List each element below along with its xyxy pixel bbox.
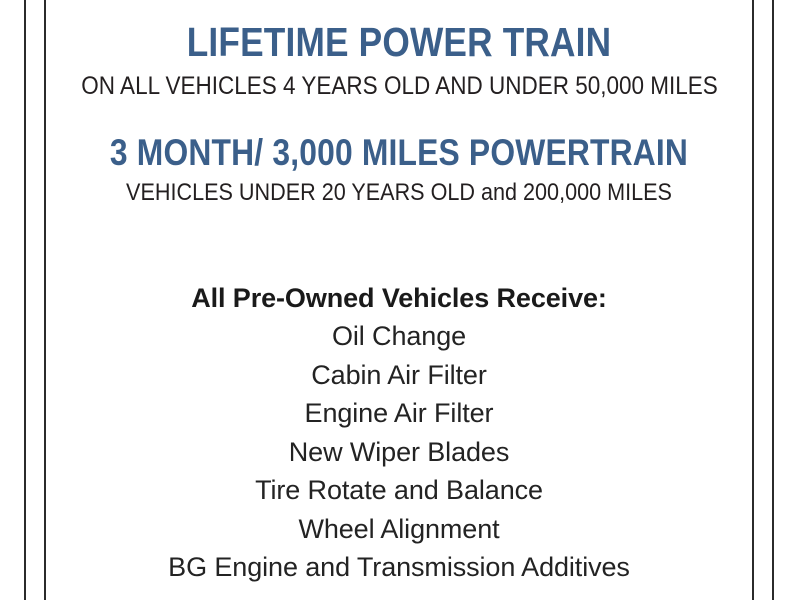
services-section: All Pre-Owned Vehicles Receive: Oil Chan… xyxy=(46,279,752,587)
services-section-title: All Pre-Owned Vehicles Receive: xyxy=(46,279,752,317)
warranty-headline-lifetime: LIFETIME POWER TRAIN xyxy=(95,22,702,63)
list-item: BG Engine and Transmission Additives xyxy=(46,548,752,587)
warranty-flyer-page: { "theme": { "accent_blue": "#3b5f8a", "… xyxy=(0,0,800,600)
list-item: Engine Air Filter xyxy=(46,394,752,433)
flyer-content: LIFETIME POWER TRAIN ON ALL VEHICLES 4 Y… xyxy=(46,0,752,600)
list-item: New Wiper Blades xyxy=(46,433,752,472)
warranty-block-lifetime-powertrain: LIFETIME POWER TRAIN ON ALL VEHICLES 4 Y… xyxy=(46,0,752,99)
page-border-rule-right-outer xyxy=(772,0,774,600)
list-item: Oil Change xyxy=(46,317,752,356)
list-item: Cabin Air Filter xyxy=(46,356,752,395)
page-border-rule-right-inner xyxy=(752,0,754,600)
list-item: Tire Rotate and Balance xyxy=(46,471,752,510)
warranty-subline-3-month: VEHICLES UNDER 20 YEARS OLD and 200,000 … xyxy=(81,181,716,205)
warranty-headline-3-month: 3 MONTH/ 3,000 MILES POWERTRAIN xyxy=(95,134,702,171)
list-item: Wheel Alignment xyxy=(46,510,752,549)
warranty-subline-lifetime: ON ALL VEHICLES 4 YEARS OLD AND UNDER 50… xyxy=(81,74,716,99)
warranty-block-3-month-powertrain: 3 MONTH/ 3,000 MILES POWERTRAIN VEHICLES… xyxy=(46,99,752,205)
page-border-rule-left-outer xyxy=(24,0,26,600)
